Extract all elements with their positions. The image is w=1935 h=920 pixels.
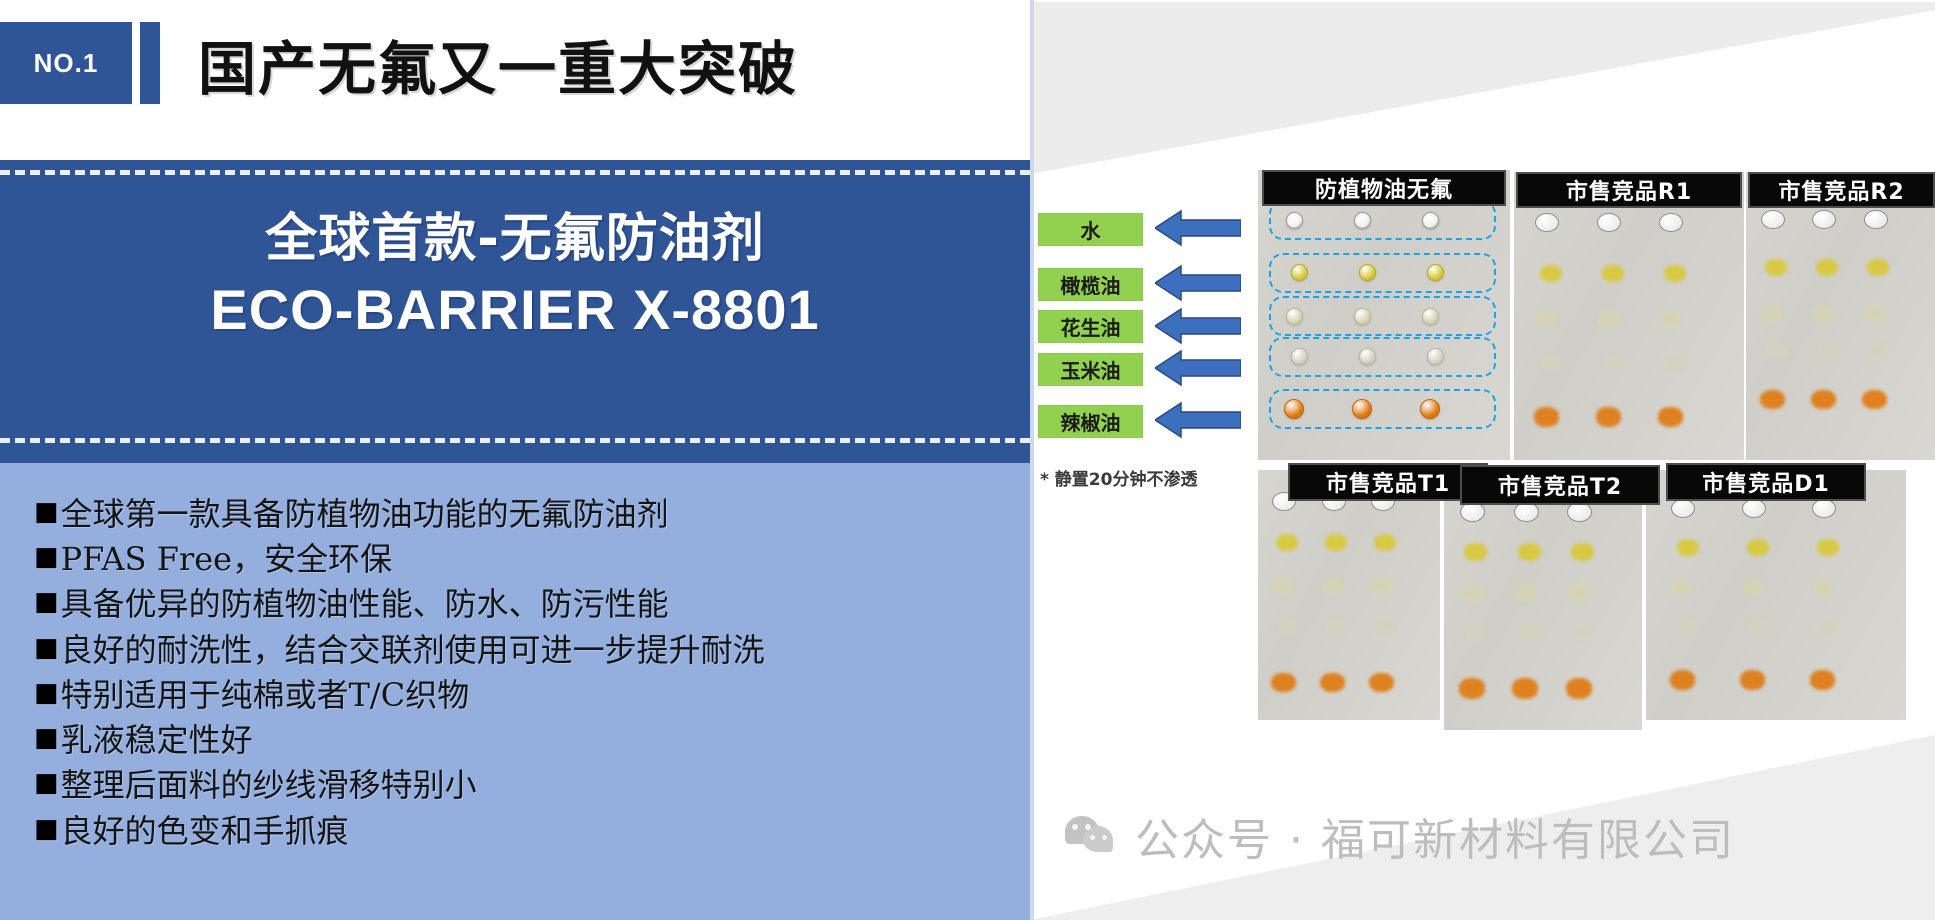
sample-panel-d1 bbox=[1646, 470, 1906, 720]
test-droplet bbox=[1460, 584, 1483, 602]
test-droplet bbox=[1540, 354, 1562, 371]
slide-root: NO.1 国产无氟又一重大突破 全球首款-无氟防油剂 ECO-BARRIER X… bbox=[0, 0, 1935, 920]
test-droplet bbox=[1374, 617, 1396, 634]
legend-label-text: 橄榄油 bbox=[1061, 270, 1121, 299]
test-droplet bbox=[1571, 543, 1594, 561]
test-droplet bbox=[1742, 579, 1764, 596]
list-item-label: PFAS Free，安全环保 bbox=[61, 538, 393, 580]
test-droplet bbox=[1597, 311, 1619, 328]
sample-panel-title-r1: 市售竞品R1 bbox=[1516, 172, 1742, 208]
legend-label-water: 水 bbox=[1038, 213, 1143, 246]
banner-dashed-divider-bottom bbox=[0, 438, 1030, 443]
test-droplet bbox=[1374, 534, 1396, 551]
test-droplet bbox=[1291, 348, 1308, 365]
list-item-label: 全球第一款具备防植物油功能的无氟防油剂 bbox=[61, 493, 669, 535]
test-droplet bbox=[1459, 678, 1485, 698]
test-droplet bbox=[1812, 499, 1836, 518]
list-item: ■ 全球第一款具备防植物油功能的无氟防油剂 bbox=[0, 493, 1030, 535]
test-droplet bbox=[1671, 579, 1693, 596]
list-item: ■ 特别适用于纯棉或者T/C织物 bbox=[0, 674, 1030, 716]
no1-badge: NO.1 bbox=[0, 22, 132, 104]
test-droplet bbox=[1811, 390, 1836, 410]
test-droplet bbox=[1286, 308, 1303, 325]
test-droplet bbox=[1535, 213, 1559, 232]
left-content-column: NO.1 国产无氟又一重大突破 全球首款-无氟防油剂 ECO-BARRIER X… bbox=[0, 0, 1030, 920]
test-droplet bbox=[1322, 577, 1344, 594]
test-droplet bbox=[1571, 623, 1594, 641]
test-droplet bbox=[1540, 265, 1562, 282]
arrow-left-icon bbox=[1155, 401, 1241, 439]
legend-label-text: 辣椒油 bbox=[1061, 407, 1121, 436]
test-droplet bbox=[1284, 399, 1304, 419]
test-droplet bbox=[1514, 584, 1537, 602]
sample-panel-t1 bbox=[1258, 470, 1440, 720]
test-droplet bbox=[1352, 399, 1372, 419]
test-droplet bbox=[1602, 265, 1624, 282]
test-droplet bbox=[1765, 259, 1787, 276]
test-results-column: 水 橄榄油 花生油 玉米油 辣椒油 * 静置20分钟不渗透 防植物油无氟 市售竞… bbox=[1030, 0, 1935, 920]
test-droplet bbox=[1671, 499, 1695, 518]
banner-title-en: ECO-BARRIER X-8801 bbox=[0, 275, 1030, 345]
feature-bullet-list: ■ 全球第一款具备防植物油功能的无氟防油剂 ■ PFAS Free，安全环保 ■… bbox=[0, 463, 1030, 920]
legend-label-chili-oil: 辣椒油 bbox=[1038, 405, 1143, 438]
test-droplet bbox=[1677, 539, 1699, 556]
test-droplet bbox=[1816, 342, 1838, 359]
test-droplet bbox=[1325, 534, 1347, 551]
test-droplet bbox=[1422, 308, 1439, 325]
test-droplet bbox=[1535, 311, 1557, 328]
test-droplet bbox=[1816, 259, 1838, 276]
product-banner: 全球首款-无氟防油剂 ECO-BARRIER X-8801 bbox=[0, 160, 1030, 463]
list-item-label: 特别适用于纯棉或者T/C织物 bbox=[61, 674, 470, 716]
list-item: ■ 具备优异的防植物油性能、防水、防污性能 bbox=[0, 583, 1030, 625]
test-droplet bbox=[1566, 678, 1592, 698]
test-droplet bbox=[1747, 617, 1769, 634]
test-droplet bbox=[1677, 617, 1699, 634]
test-droplet bbox=[1812, 210, 1836, 229]
slide-header: NO.1 国产无氟又一重大突破 bbox=[0, 0, 1030, 160]
list-item-label: 具备优异的防植物油性能、防水、防污性能 bbox=[61, 583, 669, 625]
sample-panel-title-r2: 市售竞品R2 bbox=[1748, 172, 1935, 208]
test-droplet bbox=[1534, 407, 1559, 427]
test-droplet bbox=[1747, 539, 1769, 556]
badge-accent-bar bbox=[140, 22, 160, 104]
bullet-marker-icon: ■ bbox=[34, 719, 59, 758]
test-droplet bbox=[1670, 670, 1695, 690]
wechat-icon bbox=[1065, 814, 1121, 858]
no1-badge-label: NO.1 bbox=[34, 48, 99, 79]
test-droplet bbox=[1369, 673, 1394, 693]
test-droplet bbox=[1817, 539, 1839, 556]
test-droplet bbox=[1567, 584, 1590, 602]
test-droplet bbox=[1817, 617, 1839, 634]
test-droplet bbox=[1867, 259, 1889, 276]
test-droplet bbox=[1286, 212, 1303, 229]
watermark: 公众号 · 福可新材料有限公司 bbox=[1065, 804, 1735, 868]
test-droplet bbox=[1427, 348, 1444, 365]
sample-panel-title-fluorine-free: 防植物油无氟 bbox=[1262, 170, 1506, 206]
test-droplet bbox=[1359, 348, 1376, 365]
sample-panel-r2 bbox=[1746, 172, 1935, 460]
test-droplet bbox=[1659, 311, 1681, 328]
column-divider bbox=[1030, 0, 1034, 920]
banner-dashed-divider-top bbox=[0, 170, 1030, 175]
test-droplet bbox=[1659, 213, 1683, 232]
sample-panel-r1 bbox=[1514, 172, 1744, 460]
test-droplet bbox=[1765, 342, 1787, 359]
decorative-wedge-top bbox=[1030, 2, 1935, 174]
test-droplet bbox=[1325, 617, 1347, 634]
test-droplet bbox=[1272, 577, 1294, 594]
test-droplet bbox=[1276, 617, 1298, 634]
bullet-marker-icon: ■ bbox=[34, 764, 59, 803]
list-item-label: 良好的色变和手抓痕 bbox=[61, 810, 349, 852]
list-item: ■ PFAS Free，安全环保 bbox=[0, 538, 1030, 580]
list-item: ■ 整理后面料的纱线滑移特别小 bbox=[0, 764, 1030, 806]
footnote-text: * 静置20分钟不渗透 bbox=[1040, 465, 1270, 490]
test-droplet bbox=[1664, 354, 1686, 371]
list-item: ■ 良好的色变和手抓痕 bbox=[0, 810, 1030, 852]
banner-text-block: 全球首款-无氟防油剂 ECO-BARRIER X-8801 bbox=[0, 208, 1030, 345]
legend-label-text: 花生油 bbox=[1061, 312, 1121, 341]
test-droplet bbox=[1354, 212, 1371, 229]
test-droplet bbox=[1862, 390, 1887, 410]
test-droplet bbox=[1761, 210, 1785, 229]
test-droplet bbox=[1740, 670, 1765, 690]
test-droplet bbox=[1742, 499, 1766, 518]
legend-label-peanut-oil: 花生油 bbox=[1038, 310, 1143, 343]
test-droplet bbox=[1422, 212, 1439, 229]
test-droplet bbox=[1867, 342, 1889, 359]
arrow-left-icon bbox=[1155, 307, 1241, 345]
test-droplet bbox=[1359, 264, 1376, 281]
test-droplet bbox=[1864, 305, 1886, 322]
watermark-text: 公众号 · 福可新材料有限公司 bbox=[1135, 804, 1735, 868]
test-droplet bbox=[1812, 305, 1834, 322]
test-droplet bbox=[1271, 673, 1296, 693]
test-droplet bbox=[1864, 210, 1888, 229]
sample-panel-title-d1: 市售竞品D1 bbox=[1666, 463, 1866, 501]
bullet-marker-icon: ■ bbox=[34, 583, 59, 622]
legend-label-text: 玉米油 bbox=[1061, 355, 1121, 384]
row-highlight-box bbox=[1269, 296, 1496, 336]
test-droplet bbox=[1371, 577, 1393, 594]
sample-panel-title-t2: 市售竞品T2 bbox=[1460, 465, 1660, 505]
bullet-marker-icon: ■ bbox=[34, 810, 59, 849]
bullet-marker-icon: ■ bbox=[34, 493, 59, 532]
list-item-label: 整理后面料的纱线滑移特别小 bbox=[61, 764, 477, 806]
sample-panel-fluorine-free bbox=[1258, 170, 1510, 460]
test-droplet bbox=[1810, 670, 1835, 690]
sample-panel-title-t1: 市售竞品T1 bbox=[1288, 463, 1488, 501]
test-droplet bbox=[1812, 579, 1834, 596]
bullet-marker-icon: ■ bbox=[34, 538, 59, 577]
test-droplet bbox=[1518, 623, 1541, 641]
list-item: ■ 乳液稳定性好 bbox=[0, 719, 1030, 761]
sample-panel-t2 bbox=[1444, 472, 1642, 730]
test-droplet bbox=[1658, 407, 1683, 427]
test-droplet bbox=[1664, 265, 1686, 282]
legend-label-corn-oil: 玉米油 bbox=[1038, 353, 1143, 386]
test-droplet bbox=[1761, 305, 1783, 322]
test-droplet bbox=[1276, 534, 1298, 551]
list-item-label: 乳液稳定性好 bbox=[61, 719, 253, 761]
test-droplet bbox=[1518, 543, 1541, 561]
test-droplet bbox=[1602, 354, 1624, 371]
bullet-marker-icon: ■ bbox=[34, 674, 59, 713]
list-item: ■ 良好的耐洗性，结合交联剂使用可进一步提升耐洗 bbox=[0, 629, 1030, 671]
test-droplet bbox=[1464, 623, 1487, 641]
arrow-left-icon bbox=[1155, 264, 1241, 302]
test-droplet bbox=[1291, 264, 1308, 281]
list-item-label: 良好的耐洗性，结合交联剂使用可进一步提升耐洗 bbox=[61, 629, 765, 671]
test-droplet bbox=[1597, 213, 1621, 232]
test-droplet bbox=[1464, 543, 1487, 561]
page-title: 国产无氟又一重大突破 bbox=[198, 20, 998, 108]
test-droplet bbox=[1596, 407, 1621, 427]
test-droplet bbox=[1512, 678, 1538, 698]
legend-label-olive-oil: 橄榄油 bbox=[1038, 268, 1143, 301]
test-droplet bbox=[1354, 308, 1371, 325]
test-droplet bbox=[1427, 264, 1444, 281]
banner-title-cn: 全球首款-无氟防油剂 bbox=[0, 208, 1030, 271]
test-droplet bbox=[1320, 673, 1345, 693]
arrow-left-icon bbox=[1155, 209, 1241, 247]
row-highlight-box bbox=[1269, 200, 1496, 240]
legend-label-text: 水 bbox=[1081, 215, 1101, 244]
arrow-left-icon bbox=[1155, 349, 1241, 387]
bullet-marker-icon: ■ bbox=[34, 629, 59, 668]
test-droplet bbox=[1760, 390, 1785, 410]
